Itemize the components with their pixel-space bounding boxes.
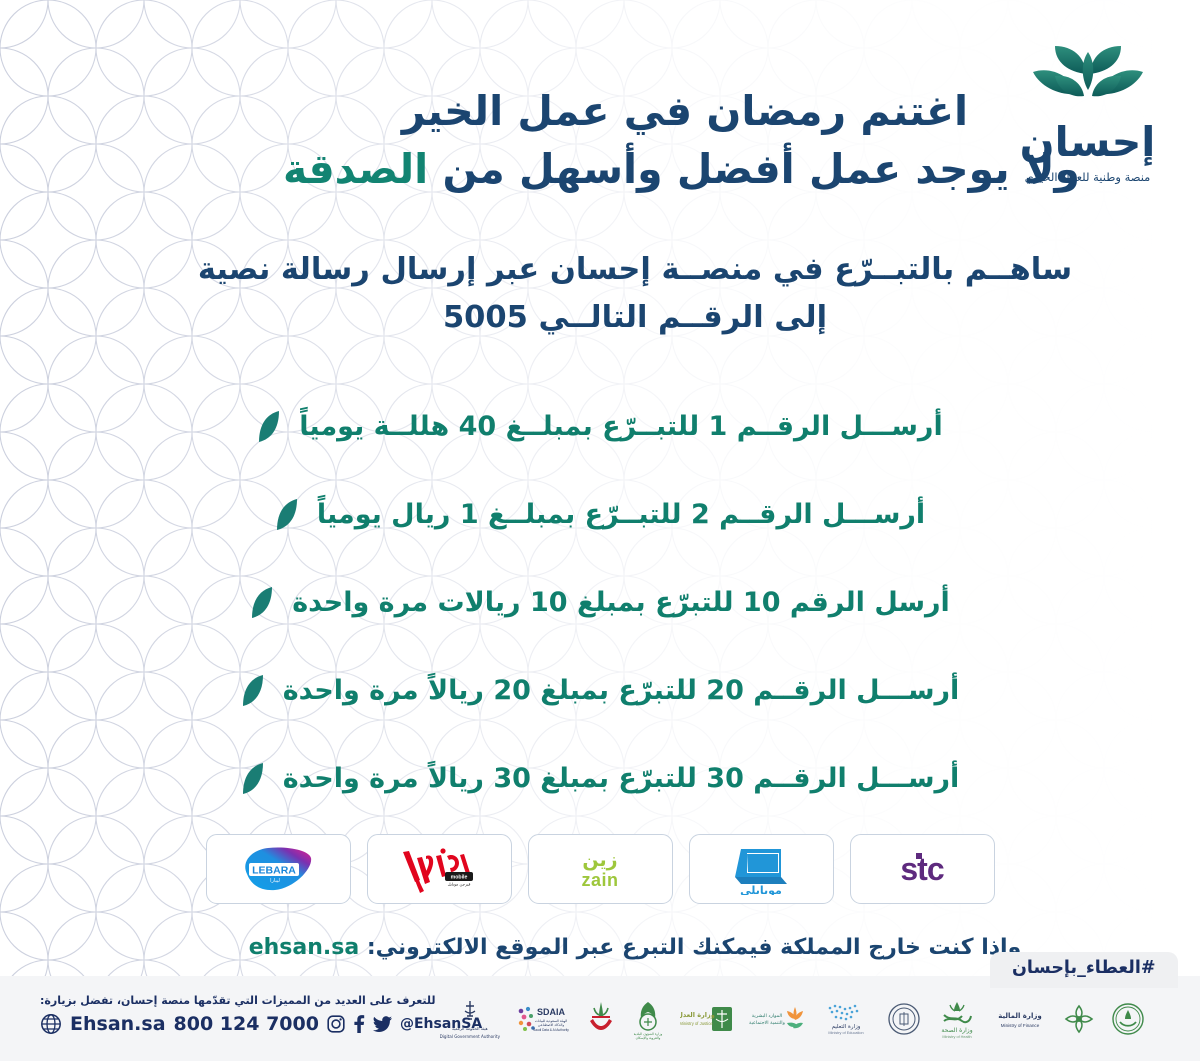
partner-logo-sdaia: SDAIA الهيئة السعودية للبيانات والذكاء ا… xyxy=(515,993,571,1045)
poster-canvas: إحسان منصة وطنية للعمل الخيري اغتنم رمضا… xyxy=(0,0,1200,1061)
svg-text:Ministry of Education: Ministry of Education xyxy=(828,1031,863,1035)
footer-site[interactable]: Ehsan.sa xyxy=(70,1013,166,1035)
partner-logo-moh: وزارة الصحة Ministry of Health xyxy=(936,993,978,1045)
moj-logo-icon: وزارة العدل Ministry of Justice xyxy=(680,1003,734,1035)
lebara-logo-icon: LEBARA ليبارا xyxy=(235,844,321,894)
svg-text:stc: stc xyxy=(900,851,943,887)
leaf-bullet-icon xyxy=(250,585,274,619)
operator-card-virgin-mobile[interactable]: mobile فيرجن موبايل xyxy=(367,834,512,904)
partner-logo-moe: وزارة التعليم Ministry of Education xyxy=(820,993,872,1045)
svg-text:والذكاء الاصطناعي: والذكاء الاصطناعي xyxy=(538,1023,565,1027)
moh-logo-icon: وزارة الصحة Ministry of Health xyxy=(936,999,978,1039)
svg-text:zain: zain xyxy=(581,870,618,890)
momrah-logo-icon: وزارة الشؤون البلدية والقروية والإسكان xyxy=(631,998,665,1040)
footer-contact-block: للتعرف على العديد من المميزات التي تقدّم… xyxy=(40,994,482,1035)
svg-text:والتنمية الاجتماعية: والتنمية الاجتماعية xyxy=(749,1020,785,1026)
facebook-icon[interactable] xyxy=(353,1015,365,1033)
partner-logo-green-seal xyxy=(1111,993,1145,1045)
headline-line-2: ولا يوجد عمل أفضل وأسهل من الصدقة xyxy=(290,140,1080,198)
svg-text:SDAIA: SDAIA xyxy=(537,1007,566,1017)
subheading-line-1: ساهــم بالتبــرّع في منصــة إحسان عبر إر… xyxy=(130,246,1140,294)
partner-logo-moj: وزارة العدل Ministry of Justice xyxy=(680,993,734,1045)
globe-icon xyxy=(40,1013,62,1035)
list-item: أرســـل الرقــم 30 للتبرّع بمبلغ 30 ريال… xyxy=(0,734,1200,822)
svg-text:والقروية والإسكان: والقروية والإسكان xyxy=(636,1036,661,1040)
svg-text:Saudi Data & AI Authority: Saudi Data & AI Authority xyxy=(533,1028,569,1032)
mof-logo-icon: وزارة المالية Ministry of Finance xyxy=(993,1005,1047,1033)
headline-line-2-prefix: ولا يوجد عمل أفضل وأسهل من xyxy=(428,145,1080,193)
offer-text: أرســـل الرقــم 30 للتبرّع بمبلغ 30 ريال… xyxy=(283,763,960,794)
offer-text: أرســـل الرقــم 2 للتبــرّع بمبلــغ 1 ري… xyxy=(317,499,925,530)
partner-logo-mof: وزارة المالية Ministry of Finance xyxy=(993,993,1047,1045)
website-note-text: وإذا كنت خارج المملكة فيمكنك التبرع عبر … xyxy=(367,935,1021,960)
partner-logo-moi xyxy=(586,993,616,1045)
offer-list: أرســـل الرقــم 1 للتبــرّع بمبلــغ 40 ه… xyxy=(0,382,1200,822)
svg-text:زين: زين xyxy=(582,849,617,871)
leaf-bullet-icon xyxy=(275,497,299,531)
partner-logo-burst xyxy=(1062,993,1096,1045)
subheading-block: ساهــم بالتبــرّع في منصــة إحسان عبر إر… xyxy=(130,246,1140,342)
svg-text:الموارد البشرية: الموارد البشرية xyxy=(752,1013,782,1019)
leaf-bullet-icon xyxy=(257,409,281,443)
list-item: أرســـل الرقــم 20 للتبرّع بمبلغ 20 ريال… xyxy=(0,646,1200,734)
operator-card-lebara[interactable]: LEBARA ليبارا xyxy=(206,834,351,904)
operator-card-list: LEBARA ليبارا xyxy=(0,834,1200,904)
svg-text:وزارة التعليم: وزارة التعليم xyxy=(832,1024,861,1030)
subheading-line-2: إلى الرقــم التالــي 5005 xyxy=(130,294,1140,342)
svg-text:وزارة المالية: وزارة المالية xyxy=(998,1012,1041,1020)
leaf-bullet-icon xyxy=(241,673,265,707)
svg-text:موبايلي: موبايلي xyxy=(740,884,782,895)
footer-social-handle[interactable]: @EhsanSA xyxy=(400,1016,482,1032)
svg-text:Ministry of Health: Ministry of Health xyxy=(942,1035,971,1039)
stc-logo-icon: stc xyxy=(876,847,968,891)
partner-logo-seal xyxy=(887,993,921,1045)
list-item: أرسل الرقم 10 للتبرّع بمبلغ 10 ريالات مر… xyxy=(0,558,1200,646)
svg-text:Ministry of Justice: Ministry of Justice xyxy=(680,1021,713,1026)
offer-text: أرســـل الرقــم 20 للتبرّع بمبلغ 20 ريال… xyxy=(283,675,960,706)
offer-text: أرسل الرقم 10 للتبرّع بمبلغ 10 ريالات مر… xyxy=(292,587,950,618)
headline-accent-word: الصدقة xyxy=(283,145,428,193)
partner-logo-momrah: وزارة الشؤون البلدية والقروية والإسكان xyxy=(631,993,665,1045)
mobily-logo-icon: موبايلي xyxy=(721,843,801,895)
headline-line-1: اغتنم رمضان في عمل الخير xyxy=(290,82,1080,140)
leaf-bullet-icon xyxy=(241,761,265,795)
footer-phone[interactable]: 800 124 7000 xyxy=(174,1013,319,1035)
svg-text:ليبارا: ليبارا xyxy=(270,878,280,884)
instagram-icon[interactable] xyxy=(327,1015,345,1033)
footer-bar: هيئة الحكومة الرقمية Digital Government … xyxy=(0,976,1200,1061)
list-item: أرســـل الرقــم 1 للتبــرّع بمبلــغ 40 ه… xyxy=(0,382,1200,470)
burst-logo-icon xyxy=(1062,1002,1096,1036)
moi-logo-icon xyxy=(586,999,616,1039)
hashtag-badge: #العطاء_بإحسان xyxy=(990,952,1178,988)
operator-card-stc[interactable]: stc xyxy=(850,834,995,904)
offer-text: أرســـل الرقــم 1 للتبــرّع بمبلــغ 40 ه… xyxy=(299,411,942,442)
hrsd-logo-icon: الموارد البشرية والتنمية الاجتماعية xyxy=(749,1003,805,1035)
operator-card-mobily[interactable]: موبايلي xyxy=(689,834,834,904)
website-note: وإذا كنت خارج المملكة فيمكنك التبرع عبر … xyxy=(130,935,1140,960)
svg-text:فيرجن موبايل: فيرجن موبايل xyxy=(448,882,471,887)
svg-text:Ministry of Finance: Ministry of Finance xyxy=(1001,1023,1040,1028)
moe-logo-icon: وزارة التعليم Ministry of Education xyxy=(820,1002,872,1036)
twitter-icon[interactable] xyxy=(373,1016,392,1032)
footer-contact-row: Ehsan.sa 800 124 7000 @EhsanSA xyxy=(40,1013,482,1035)
svg-text:وزارة العدل: وزارة العدل xyxy=(680,1011,715,1019)
list-item: أرســـل الرقــم 2 للتبــرّع بمبلــغ 1 ري… xyxy=(0,470,1200,558)
virgin-mobile-logo-icon: mobile فيرجن موبايل xyxy=(393,844,485,894)
seal-logo-icon xyxy=(887,1002,921,1036)
svg-text:LEBARA: LEBARA xyxy=(252,864,296,876)
partner-logo-strip: هيئة الحكومة الرقمية Digital Government … xyxy=(420,993,1145,1045)
zain-logo-icon: زين zain xyxy=(557,844,643,894)
footer-visit-text: للتعرف على العديد من المميزات التي تقدّم… xyxy=(40,994,482,1007)
green-seal-logo-icon xyxy=(1111,1002,1145,1036)
partner-logo-hrsd: الموارد البشرية والتنمية الاجتماعية xyxy=(749,993,805,1045)
svg-text:وزارة الصحة: وزارة الصحة xyxy=(941,1027,972,1034)
headline-block: اغتنم رمضان في عمل الخير ولا يوجد عمل أف… xyxy=(290,82,1080,198)
website-url[interactable]: ehsan.sa xyxy=(249,935,359,960)
operator-card-zain[interactable]: زين zain xyxy=(528,834,673,904)
svg-text:mobile: mobile xyxy=(451,875,468,881)
sdaia-logo-icon: SDAIA الهيئة السعودية للبيانات والذكاء ا… xyxy=(515,1004,571,1034)
